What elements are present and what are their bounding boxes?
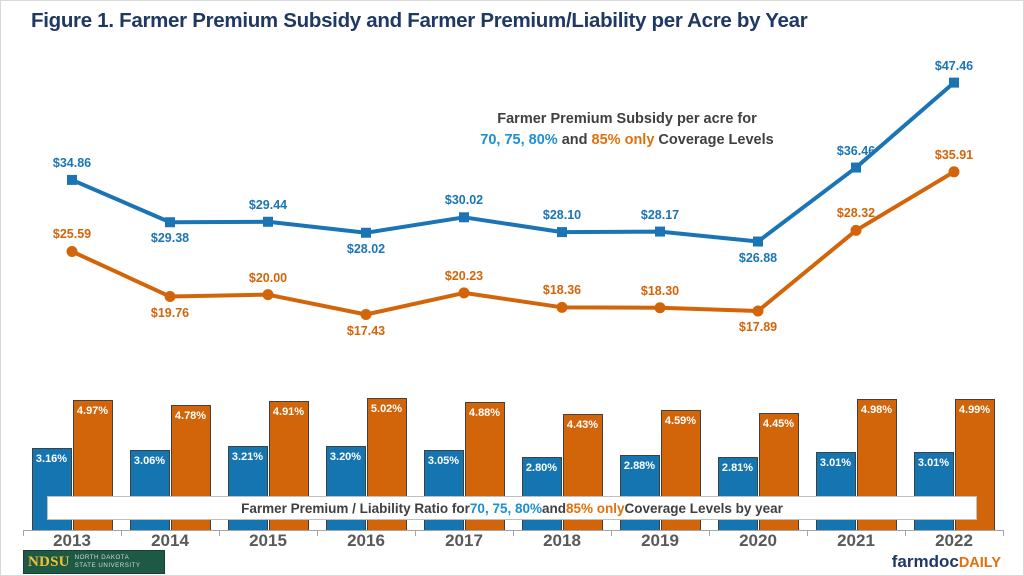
bar-value-label: 2.88% bbox=[621, 460, 659, 472]
orange-marker bbox=[263, 289, 274, 300]
blue-marker bbox=[67, 175, 77, 185]
x-axis-label-2018: 2018 bbox=[543, 531, 581, 551]
ratio-annotation-blue-levels: 70, 75, 80% bbox=[470, 501, 542, 516]
bar-value-label: 3.16% bbox=[33, 453, 71, 465]
blue-marker bbox=[263, 217, 273, 227]
x-axis-tick bbox=[1003, 530, 1004, 536]
orange-data-label: $25.59 bbox=[53, 227, 91, 241]
ratio-annotation-tail: Coverage Levels by year bbox=[625, 501, 783, 516]
orange-data-label: $35.91 bbox=[935, 148, 973, 162]
ratio-annotation-orange-level: 85% only bbox=[566, 501, 625, 516]
bar-value-label: 5.02% bbox=[368, 403, 406, 415]
ndsu-logo: NDSU NORTH DAKOTA STATE UNIVERSITY bbox=[23, 550, 165, 574]
ratio-annotation-box: Farmer Premium / Liability Ratio for 70,… bbox=[47, 496, 977, 520]
bar-value-label: 4.43% bbox=[564, 419, 602, 431]
bar-value-label: 4.98% bbox=[858, 404, 896, 416]
bar-value-label: 4.91% bbox=[270, 406, 308, 418]
subsidy-annotation-orange-level: 85% only bbox=[592, 132, 655, 148]
blue-marker bbox=[851, 163, 861, 173]
x-axis-label-2017: 2017 bbox=[445, 531, 483, 551]
x-axis-tick bbox=[513, 530, 514, 536]
ndsu-logo-subtext-line1: NORTH DAKOTA bbox=[75, 554, 141, 562]
blue-marker bbox=[459, 212, 469, 222]
blue-marker bbox=[655, 227, 665, 237]
bar-value-label: 4.88% bbox=[466, 407, 504, 419]
x-axis-label-2019: 2019 bbox=[641, 531, 679, 551]
farmdoc-daily-logo: farmdocDAILY bbox=[892, 552, 1001, 572]
bar-value-label: 2.80% bbox=[523, 462, 561, 474]
blue-data-label: $29.44 bbox=[249, 198, 287, 212]
bar-value-label: 3.21% bbox=[229, 451, 267, 463]
bar-value-label: 4.99% bbox=[956, 404, 994, 416]
ndsu-logo-subtext: NORTH DAKOTA STATE UNIVERSITY bbox=[75, 554, 141, 569]
x-axis-tick bbox=[415, 530, 416, 536]
x-axis-label-2015: 2015 bbox=[249, 531, 287, 551]
orange-marker bbox=[165, 291, 176, 302]
orange-marker bbox=[655, 302, 666, 313]
blue-data-label: $30.02 bbox=[445, 193, 483, 207]
farmdoc-logo-suffix: DAILY bbox=[959, 555, 1001, 571]
x-axis-tick bbox=[219, 530, 220, 536]
orange-marker bbox=[851, 225, 862, 236]
blue-data-label: $47.46 bbox=[935, 59, 973, 73]
x-axis-label-2022: 2022 bbox=[935, 531, 973, 551]
x-axis-tick bbox=[23, 530, 24, 536]
bar-value-label: 3.06% bbox=[131, 455, 169, 467]
blue-marker bbox=[361, 228, 371, 238]
bar-value-label: 3.01% bbox=[817, 457, 855, 469]
bar-value-label: 4.97% bbox=[74, 405, 112, 417]
orange-data-label: $20.23 bbox=[445, 269, 483, 283]
blue-data-label: $29.38 bbox=[151, 231, 189, 245]
subsidy-annotation-line1: Farmer Premium Subsidy per acre for bbox=[497, 111, 757, 127]
blue-data-label: $28.10 bbox=[543, 208, 581, 222]
farmdoc-logo-main: farmdoc bbox=[892, 552, 959, 571]
x-axis-label-2021: 2021 bbox=[837, 531, 875, 551]
orange-data-label: $20.00 bbox=[249, 271, 287, 285]
blue-data-label: $34.86 bbox=[53, 156, 91, 170]
subsidy-annotation-and: and bbox=[558, 132, 592, 148]
subsidy-annotation-blue-levels: 70, 75, 80% bbox=[480, 132, 557, 148]
x-axis-tick bbox=[317, 530, 318, 536]
orange-marker bbox=[67, 246, 78, 257]
orange-data-label: $18.36 bbox=[543, 283, 581, 297]
line-chart-area: $34.86$29.38$29.44$28.02$30.02$28.10$28.… bbox=[1, 41, 1024, 381]
figure-title: Figure 1. Farmer Premium Subsidy and Far… bbox=[31, 9, 807, 33]
blue-series-line bbox=[72, 83, 954, 242]
subsidy-annotation: Farmer Premium Subsidy per acre for 70, … bbox=[467, 109, 787, 150]
bar-value-label: 4.78% bbox=[172, 410, 210, 422]
ratio-annotation-and: and bbox=[542, 501, 566, 516]
figure-canvas: Figure 1. Farmer Premium Subsidy and Far… bbox=[0, 0, 1024, 576]
orange-data-label: $17.43 bbox=[347, 324, 385, 338]
blue-data-label: $28.17 bbox=[641, 208, 679, 222]
x-axis-label-2013: 2013 bbox=[53, 531, 91, 551]
x-axis-label-2014: 2014 bbox=[151, 531, 189, 551]
blue-data-label: $26.88 bbox=[739, 251, 777, 265]
bar-value-label: 4.59% bbox=[662, 415, 700, 427]
bar-value-label: 2.81% bbox=[719, 462, 757, 474]
blue-marker bbox=[753, 237, 763, 247]
x-axis-tick bbox=[709, 530, 710, 536]
blue-marker bbox=[557, 227, 567, 237]
orange-data-label: $18.30 bbox=[641, 284, 679, 298]
ratio-annotation-lead: Farmer Premium / Liability Ratio for bbox=[241, 501, 470, 516]
x-axis-label-2016: 2016 bbox=[347, 531, 385, 551]
x-axis-label-2020: 2020 bbox=[739, 531, 777, 551]
orange-marker bbox=[753, 305, 764, 316]
blue-marker bbox=[949, 78, 959, 88]
x-axis-tick bbox=[807, 530, 808, 536]
orange-marker bbox=[949, 166, 960, 177]
bar-value-label: 3.01% bbox=[915, 457, 953, 469]
blue-data-label: $36.46 bbox=[837, 144, 875, 158]
orange-marker bbox=[557, 302, 568, 313]
x-axis-tick bbox=[905, 530, 906, 536]
bar-value-label: 3.05% bbox=[425, 455, 463, 467]
ndsu-logo-wordmark: NDSU bbox=[28, 554, 70, 571]
blue-data-label: $28.02 bbox=[347, 242, 385, 256]
x-axis-tick bbox=[121, 530, 122, 536]
blue-marker bbox=[165, 217, 175, 227]
x-axis-tick bbox=[611, 530, 612, 536]
bar-value-label: 3.20% bbox=[327, 451, 365, 463]
ndsu-logo-subtext-line2: STATE UNIVERSITY bbox=[75, 562, 141, 570]
orange-data-label: $17.89 bbox=[739, 320, 777, 334]
orange-data-label: $28.32 bbox=[837, 206, 875, 220]
subsidy-annotation-tail: Coverage Levels bbox=[654, 132, 773, 148]
bar-value-label: 4.45% bbox=[760, 418, 798, 430]
orange-marker bbox=[361, 309, 372, 320]
orange-marker bbox=[459, 287, 470, 298]
orange-data-label: $19.76 bbox=[151, 306, 189, 320]
